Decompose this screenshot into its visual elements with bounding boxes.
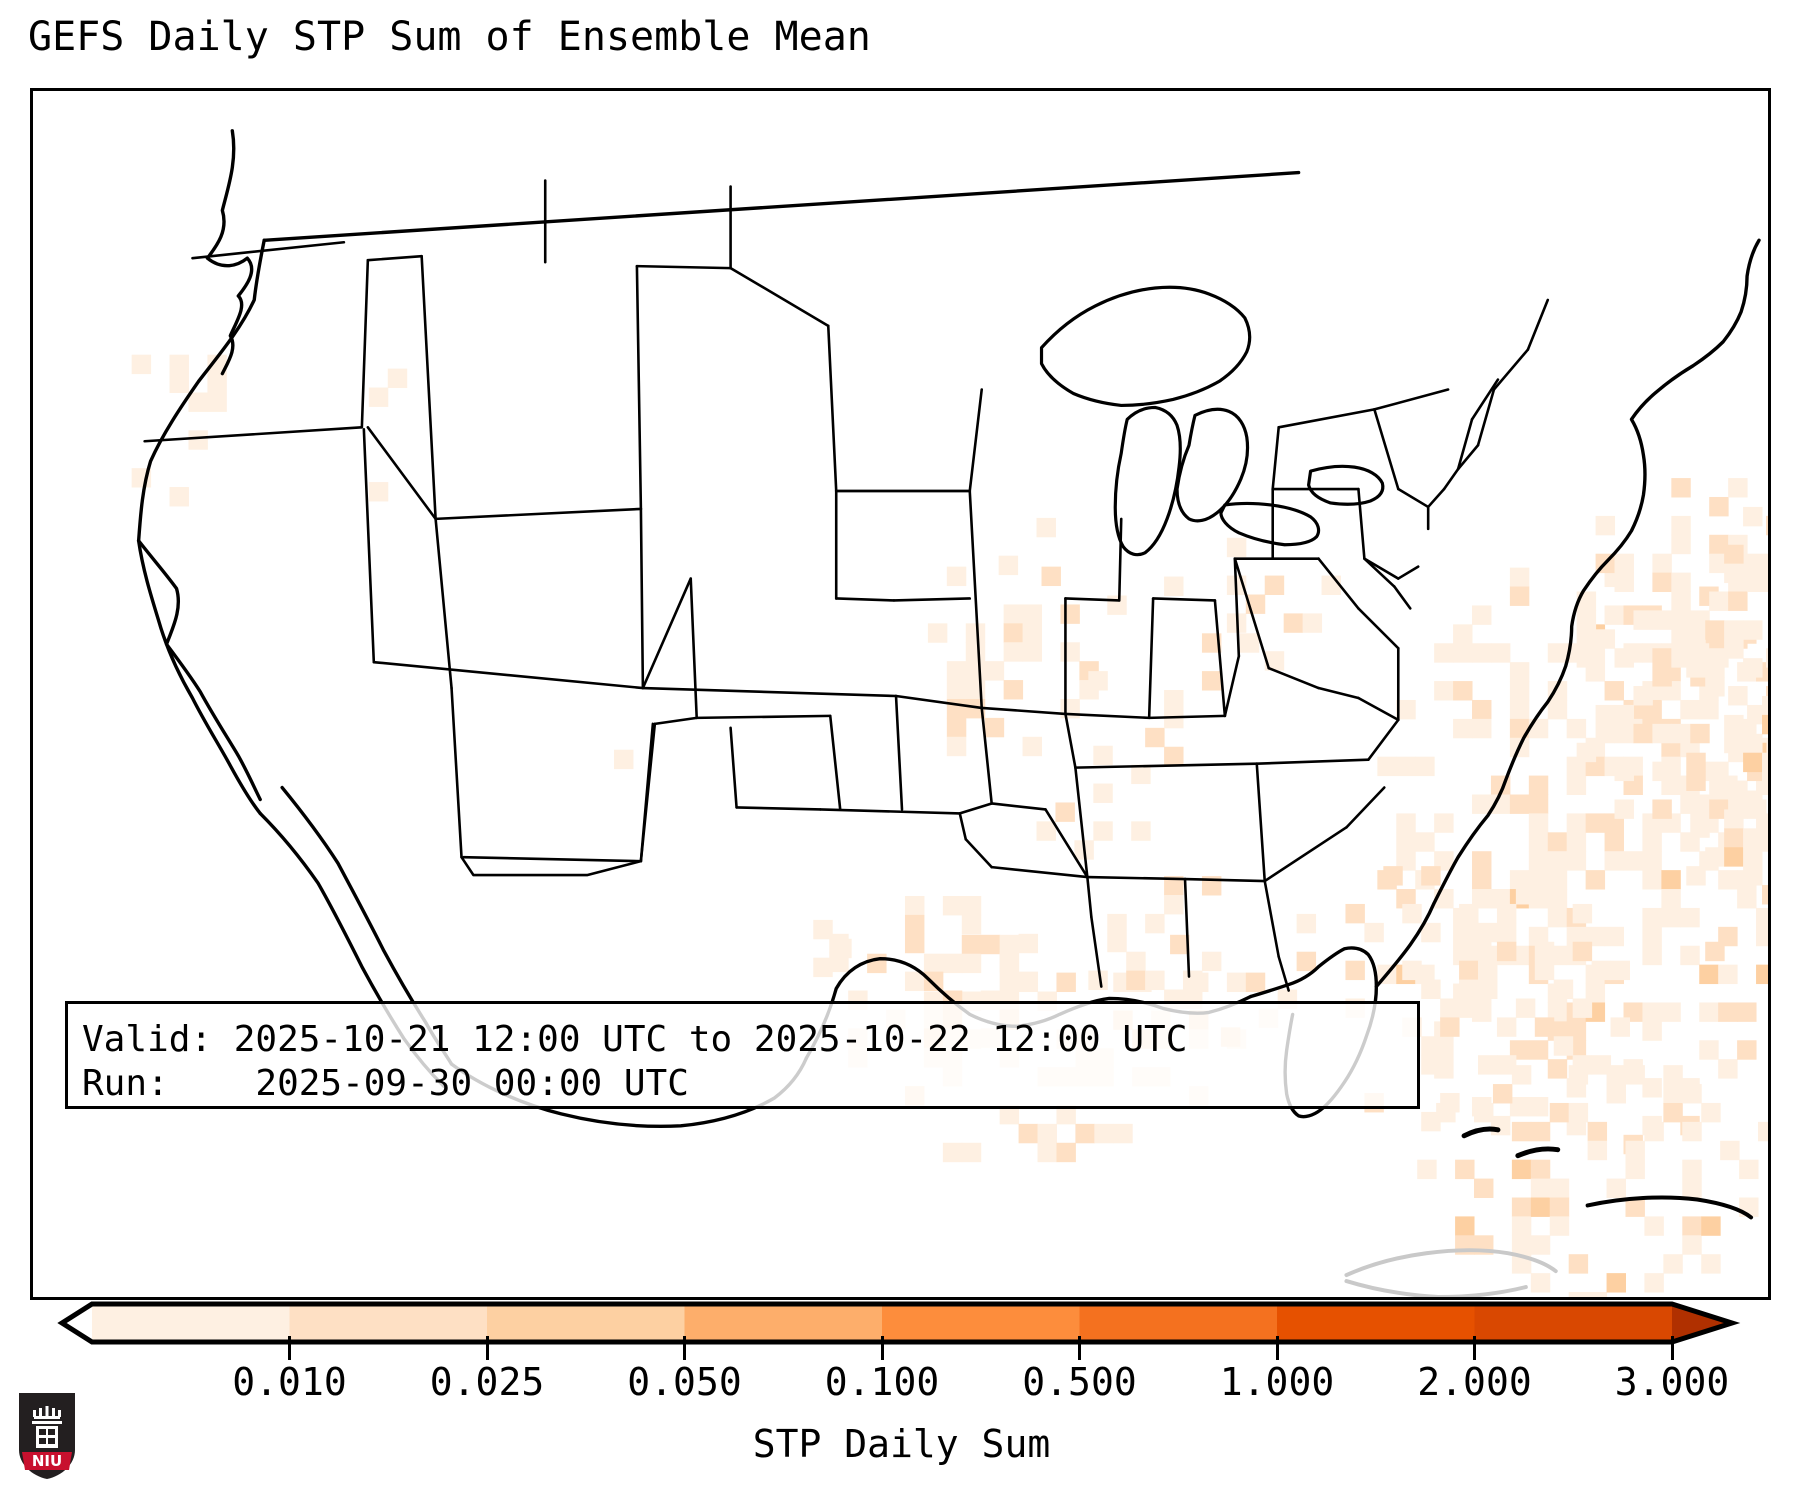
stp-grid-cell bbox=[1766, 516, 1768, 535]
stp-grid-cell bbox=[1705, 847, 1724, 866]
stp-grid-cell bbox=[1060, 604, 1079, 623]
stp-grid-cell bbox=[1529, 832, 1548, 851]
colorbar-tick bbox=[1473, 1336, 1476, 1360]
stp-grid-cell bbox=[1586, 870, 1605, 889]
stp-grid-cell bbox=[1107, 933, 1126, 952]
stp-grid-cell bbox=[1663, 1103, 1682, 1122]
stp-grid-cell bbox=[1183, 971, 1202, 990]
stp-grid-cell bbox=[1699, 700, 1718, 719]
stp-grid-cell bbox=[1459, 998, 1478, 1017]
stp-grid-cell bbox=[1055, 802, 1074, 821]
stp-grid-cell bbox=[1682, 1216, 1701, 1235]
stp-grid-cell bbox=[1548, 870, 1567, 889]
stp-grid-cell bbox=[1577, 610, 1596, 629]
stp-grid-cell bbox=[1131, 821, 1150, 840]
stp-grid-cell bbox=[1322, 576, 1341, 595]
stp-grid-cell bbox=[1756, 965, 1768, 984]
stp-grid-cell bbox=[1682, 1160, 1701, 1179]
stp-grid-cell bbox=[1493, 1084, 1512, 1103]
stp-grid-cell bbox=[1762, 885, 1768, 904]
niu-logo-text: NIU bbox=[32, 1452, 62, 1470]
stp-grid-cell bbox=[1126, 971, 1145, 990]
valid-time-text: Valid: 2025-10-21 12:00 UTC to 2025-10-2… bbox=[82, 1022, 1187, 1058]
stp-grid-cell bbox=[1743, 828, 1762, 847]
stp-grid-cell bbox=[1004, 623, 1023, 642]
stp-grid-cell bbox=[1037, 518, 1056, 537]
stp-grid-cell bbox=[1529, 1097, 1548, 1116]
stp-grid-cell bbox=[1615, 799, 1634, 818]
stp-grid-cell bbox=[1709, 762, 1728, 781]
stp-grid-cell bbox=[369, 388, 388, 407]
stp-grid-cell bbox=[1642, 1021, 1661, 1040]
stp-grid-cell bbox=[1497, 1017, 1516, 1036]
stp-grid-cell bbox=[1396, 832, 1415, 851]
stp-grid-cell bbox=[1743, 658, 1762, 677]
stp-grid-cell bbox=[1633, 610, 1652, 629]
stp-grid-cell bbox=[1682, 1235, 1701, 1254]
stp-grid-cell bbox=[1516, 885, 1535, 904]
stp-grid-cell bbox=[132, 355, 151, 374]
stp-grid-cell bbox=[1088, 971, 1107, 990]
stp-grid-cell bbox=[1459, 904, 1478, 923]
stp-grid-cell bbox=[1690, 724, 1709, 743]
stp-grid-cell bbox=[1661, 889, 1680, 908]
stp-grid-cell bbox=[1762, 696, 1768, 715]
stp-grid-cell bbox=[1550, 1197, 1569, 1216]
stp-grid-cell bbox=[188, 393, 207, 412]
stp-grid-cell bbox=[1569, 1103, 1588, 1122]
stp-grid-cell bbox=[813, 920, 832, 939]
stp-grid-cell bbox=[1202, 671, 1221, 690]
stp-grid-cell bbox=[1075, 1124, 1094, 1143]
stp-grid-cell bbox=[1701, 1216, 1720, 1235]
stp-grid-cell bbox=[1661, 908, 1680, 927]
stp-grid-cell bbox=[1671, 535, 1690, 554]
stp-grid-cell bbox=[1680, 908, 1699, 927]
stp-grid-cell bbox=[1652, 724, 1671, 743]
stp-grid-cell bbox=[1377, 757, 1396, 776]
stp-grid-cell bbox=[1728, 592, 1747, 611]
stp-grid-cell bbox=[1661, 870, 1680, 889]
stp-grid-cell bbox=[1093, 821, 1112, 840]
stp-grid-cell bbox=[1596, 705, 1615, 724]
stp-grid-cell bbox=[1093, 784, 1112, 803]
stp-grid-cell bbox=[1625, 1160, 1644, 1179]
stp-grid-cell bbox=[947, 718, 966, 737]
stp-grid-cell bbox=[1554, 980, 1573, 999]
stp-grid-cell bbox=[1567, 832, 1586, 851]
stp-grid-cell bbox=[1573, 904, 1592, 923]
stp-grid-cell bbox=[1126, 952, 1145, 971]
stp-grid-cell bbox=[1548, 851, 1567, 870]
stp-grid-cell bbox=[1724, 734, 1743, 753]
stp-grid-cell bbox=[1510, 662, 1529, 681]
stp-grid-cell bbox=[1709, 592, 1728, 611]
stp-grid-cell bbox=[1728, 686, 1747, 705]
stp-grid-cell bbox=[1625, 1141, 1644, 1160]
stp-grid-cell bbox=[1652, 762, 1671, 781]
stp-grid-cell bbox=[1548, 700, 1567, 719]
stp-grid-cell bbox=[1633, 724, 1652, 743]
colorbar-tick bbox=[881, 1336, 884, 1360]
stp-grid-cell bbox=[1718, 965, 1737, 984]
stp-grid-cell bbox=[1056, 1143, 1075, 1162]
stp-grid-cell bbox=[1529, 1040, 1548, 1059]
stp-grid-cell bbox=[1093, 746, 1112, 765]
stp-grid-cell bbox=[1758, 1122, 1768, 1141]
colorbar-tick-label: 3.000 bbox=[1615, 1360, 1729, 1404]
stp-grid-cell bbox=[1550, 1179, 1569, 1198]
stp-grid-cell bbox=[1107, 914, 1126, 933]
stp-grid-cell bbox=[966, 642, 985, 661]
stp-grid-cell bbox=[1434, 813, 1453, 832]
stp-grid-cell bbox=[1671, 516, 1690, 535]
stp-grid-cell bbox=[1615, 648, 1634, 667]
stp-grid-cell bbox=[999, 556, 1018, 575]
stp-grid-cell bbox=[1644, 1122, 1663, 1141]
stp-grid-cell bbox=[1724, 620, 1743, 639]
colorbar-tick-labels: 0.0100.0250.0500.1000.5001.0002.0003.000 bbox=[0, 1360, 1803, 1416]
colorbar-tick bbox=[1078, 1336, 1081, 1360]
stp-grid-cell bbox=[1652, 799, 1671, 818]
map-canvas bbox=[33, 91, 1768, 1297]
stp-grid-cell bbox=[1642, 870, 1661, 889]
stp-grid-cell bbox=[1472, 795, 1491, 814]
stp-grid-cell bbox=[1472, 643, 1491, 662]
stp-grid-cell bbox=[943, 896, 962, 915]
stp-grid-cell bbox=[1472, 870, 1491, 889]
stp-grid-cell bbox=[1529, 851, 1548, 870]
stp-grid-cell bbox=[1042, 567, 1061, 586]
stp-grid-cell bbox=[1718, 1002, 1737, 1021]
stp-grid-cell bbox=[1709, 781, 1728, 800]
stp-grid-cell bbox=[1567, 776, 1586, 795]
stp-grid-cell bbox=[1605, 927, 1624, 946]
stp-grid-cell bbox=[1512, 1216, 1531, 1235]
stp-grid-cell bbox=[1701, 1103, 1720, 1122]
stp-grid-cell bbox=[1615, 554, 1634, 573]
stp-grid-cell bbox=[1531, 1160, 1550, 1179]
stp-grid-cell bbox=[1164, 577, 1183, 596]
stp-grid-cell bbox=[1680, 946, 1699, 965]
stp-grid-cell bbox=[1453, 719, 1472, 738]
stp-grid-cell bbox=[1164, 747, 1183, 766]
stp-grid-cell bbox=[1596, 516, 1615, 535]
stp-grid-cell bbox=[966, 623, 985, 642]
stp-grid-cell bbox=[1682, 1084, 1701, 1103]
stp-grid-cell bbox=[1743, 791, 1762, 810]
stp-grid-cell bbox=[1652, 667, 1671, 686]
stp-grid-cell bbox=[1642, 946, 1661, 965]
stp-grid-cell bbox=[1284, 613, 1303, 632]
stp-grid-cell bbox=[962, 896, 981, 915]
stp-grid-cell bbox=[1415, 757, 1434, 776]
stp-grid-cell bbox=[1548, 889, 1567, 908]
stp-grid-cell bbox=[1682, 1179, 1701, 1198]
stp-grid-cell bbox=[1743, 847, 1762, 866]
stp-grid-cell bbox=[1699, 1040, 1718, 1059]
stp-grid-cell bbox=[1491, 643, 1510, 662]
stp-grid-cell bbox=[1023, 642, 1042, 661]
stp-grid-cell bbox=[1436, 1103, 1455, 1122]
stp-grid-cell bbox=[962, 954, 981, 973]
stp-grid-cell bbox=[1705, 677, 1724, 696]
stp-grid-cell bbox=[1756, 927, 1768, 946]
stp-grid-cell bbox=[1686, 620, 1705, 639]
stp-grid-cell bbox=[1762, 828, 1768, 847]
colorbar-ticks bbox=[0, 1336, 1803, 1362]
stp-grid-cell bbox=[1478, 1055, 1497, 1074]
stp-grid-cell bbox=[1737, 889, 1756, 908]
stp-grid-cell bbox=[1164, 690, 1183, 709]
stp-grid-cell bbox=[388, 369, 407, 388]
stp-grid-cell bbox=[1455, 1216, 1474, 1235]
stp-grid-cell bbox=[1686, 772, 1705, 791]
stp-grid-cell bbox=[1663, 1084, 1682, 1103]
stp-grid-cell bbox=[1510, 681, 1529, 700]
stp-grid-cell bbox=[1529, 776, 1548, 795]
stp-grid-cell bbox=[1038, 1124, 1057, 1143]
stp-grid-cell bbox=[947, 699, 966, 718]
stp-grid-cell bbox=[369, 482, 388, 501]
stp-grid-cell bbox=[1705, 620, 1724, 639]
stp-grid-cell bbox=[867, 954, 886, 973]
stp-grid-cell bbox=[1605, 681, 1624, 700]
stp-grid-cell bbox=[1023, 623, 1042, 642]
stp-grid-cell bbox=[1569, 1292, 1588, 1297]
stp-grid-cell bbox=[1107, 595, 1126, 614]
stp-grid-cell bbox=[1434, 681, 1453, 700]
stp-grid-cell bbox=[1663, 1065, 1682, 1084]
stp-grid-cell bbox=[1038, 1143, 1057, 1162]
run-time-text: Run: 2025-09-30 00:00 UTC bbox=[82, 1066, 689, 1102]
stp-grid-cell bbox=[1607, 1084, 1626, 1103]
stp-grid-cell bbox=[1743, 507, 1762, 526]
stp-grid-cell bbox=[170, 374, 189, 393]
stp-grid-cell bbox=[1642, 832, 1661, 851]
stp-grid-cell bbox=[1607, 1065, 1626, 1084]
stp-grid-cell bbox=[1019, 934, 1038, 953]
stp-grid-cell bbox=[1240, 633, 1259, 652]
colorbar-tick bbox=[1276, 1336, 1279, 1360]
stp-grid-cell bbox=[1718, 870, 1737, 889]
stp-grid-cell bbox=[1686, 753, 1705, 772]
colorbar-tick-label: 0.050 bbox=[627, 1360, 741, 1404]
stp-grid-cell bbox=[1548, 643, 1567, 662]
stp-grid-cell bbox=[1056, 973, 1075, 992]
stp-grid-cell bbox=[1459, 980, 1478, 999]
stp-grid-cell bbox=[1743, 753, 1762, 772]
stp-grid-cell bbox=[1417, 1160, 1436, 1179]
stp-grid-cell bbox=[943, 954, 962, 973]
stp-grid-cell bbox=[1088, 671, 1107, 690]
stp-grid-cell bbox=[1611, 1017, 1630, 1036]
stp-grid-cell bbox=[1512, 1197, 1531, 1216]
stp-grid-cell bbox=[1615, 705, 1634, 724]
stp-grid-cell bbox=[1510, 795, 1529, 814]
colorbar-tick-label: 0.100 bbox=[825, 1360, 939, 1404]
stp-grid-cell bbox=[1023, 737, 1042, 756]
stp-grid-cell bbox=[1701, 1254, 1720, 1273]
stp-grid-cell bbox=[1747, 554, 1766, 573]
stp-grid-cell bbox=[1421, 866, 1440, 885]
stp-grid-cell bbox=[1766, 573, 1768, 592]
stp-grid-cell bbox=[1004, 680, 1023, 699]
stp-grid-cell bbox=[962, 915, 981, 934]
stp-grid-cell bbox=[1478, 923, 1497, 942]
stp-grid-cell bbox=[1004, 604, 1023, 623]
stp-grid-cell bbox=[947, 661, 966, 680]
stp-grid-cell bbox=[1491, 1116, 1510, 1135]
stp-grid-cell bbox=[1402, 904, 1421, 923]
stp-grid-cell bbox=[1019, 972, 1038, 991]
stp-grid-cell bbox=[1724, 715, 1743, 734]
stp-grid-cell bbox=[1652, 610, 1671, 629]
stp-grid-cell bbox=[1569, 1065, 1588, 1084]
colorbar-tick-label: 0.500 bbox=[1022, 1360, 1136, 1404]
stp-grid-cell bbox=[1497, 923, 1516, 942]
stp-grid-cell bbox=[943, 1143, 962, 1162]
stp-grid-cell bbox=[1623, 851, 1642, 870]
stp-grid-cell bbox=[1023, 604, 1042, 623]
stp-grid-cell bbox=[1577, 743, 1596, 762]
stp-grid-cell bbox=[1510, 700, 1529, 719]
stp-grid-cell bbox=[1037, 821, 1056, 840]
stp-grid-cell bbox=[1478, 980, 1497, 999]
stp-grid-cell bbox=[1569, 1254, 1588, 1273]
stp-grid-cell bbox=[1434, 643, 1453, 662]
stp-grid-cell bbox=[1060, 642, 1079, 661]
stp-grid-cell bbox=[1510, 587, 1529, 606]
stp-grid-cell bbox=[1724, 809, 1743, 828]
stp-grid-cell bbox=[1531, 1273, 1550, 1292]
stp-grid-cell bbox=[985, 718, 1004, 737]
stp-grid-cell bbox=[1652, 554, 1671, 573]
stp-grid-cell bbox=[1577, 629, 1596, 648]
stp-grid-cell bbox=[188, 430, 207, 449]
stp-grid-cell bbox=[1145, 728, 1164, 747]
stp-grid-cell bbox=[1756, 908, 1768, 927]
stp-grid-cell bbox=[1642, 908, 1661, 927]
stp-grid-cell bbox=[1402, 961, 1421, 980]
stp-grid-cell bbox=[614, 750, 633, 769]
stp-grid-cell bbox=[985, 661, 1004, 680]
stp-grid-cell bbox=[1421, 1036, 1440, 1055]
stp-grid-cell bbox=[1227, 973, 1246, 992]
stp-grid-cell bbox=[981, 935, 1000, 954]
stp-grid-cell bbox=[1671, 478, 1690, 497]
stp-grid-cell bbox=[1607, 1273, 1626, 1292]
stp-grid-cell bbox=[1531, 1197, 1550, 1216]
stp-grid-cell bbox=[1265, 576, 1284, 595]
stp-grid-cell bbox=[1766, 648, 1768, 667]
stp-grid-cell bbox=[1472, 719, 1491, 738]
stp-grid-cell bbox=[1661, 1002, 1680, 1021]
colorbar-tick-label: 0.025 bbox=[430, 1360, 544, 1404]
stp-grid-cell bbox=[170, 487, 189, 506]
colorbar-axis-label: STP Daily Sum bbox=[0, 1422, 1803, 1466]
stp-grid-cell bbox=[207, 374, 226, 393]
stp-grid-cell bbox=[1474, 1103, 1493, 1122]
stp-grid-cell bbox=[1762, 772, 1768, 791]
stp-grid-cell bbox=[1690, 799, 1709, 818]
stp-grid-cell bbox=[1529, 813, 1548, 832]
colorbar-tick-label: 0.010 bbox=[232, 1360, 346, 1404]
stp-grid-cell bbox=[1529, 795, 1548, 814]
stp-grid-cell bbox=[1644, 1216, 1663, 1235]
stp-grid-cell bbox=[1588, 1292, 1607, 1297]
stp-grid-cell bbox=[1743, 866, 1762, 885]
stp-grid-cell bbox=[1605, 605, 1624, 624]
colorbar-tick bbox=[1671, 1336, 1674, 1360]
stp-grid-cell bbox=[207, 393, 226, 412]
stp-grid-cell bbox=[1531, 1235, 1550, 1254]
stp-grid-cell bbox=[1724, 847, 1743, 866]
stp-grid-cell bbox=[1516, 998, 1535, 1017]
stp-grid-cell bbox=[1497, 904, 1516, 923]
stp-grid-cell bbox=[1459, 961, 1478, 980]
stp-grid-cell bbox=[1548, 1059, 1567, 1078]
stp-grid-cell bbox=[1453, 681, 1472, 700]
stp-grid-cell bbox=[1535, 1017, 1554, 1036]
stp-grid-cell bbox=[1615, 724, 1634, 743]
stp-grid-cell bbox=[1227, 538, 1246, 557]
figure-root: GEFS Daily STP Sum of Ensemble Mean bbox=[0, 0, 1803, 1500]
stp-grid-cell bbox=[1705, 942, 1724, 961]
stp-grid-cell bbox=[1421, 980, 1440, 999]
stp-grid-cell bbox=[1415, 832, 1434, 851]
stp-grid-cell bbox=[1512, 1235, 1531, 1254]
stp-grid-cell bbox=[1588, 1141, 1607, 1160]
stp-grid-cell bbox=[905, 896, 924, 915]
stp-grid-cell bbox=[1550, 1216, 1569, 1235]
stp-grid-cell bbox=[1459, 923, 1478, 942]
stp-grid-cell bbox=[170, 355, 189, 374]
stp-grid-cell bbox=[1682, 1122, 1701, 1141]
stp-grid-cell bbox=[1724, 828, 1743, 847]
stp-grid-cell bbox=[1686, 866, 1705, 885]
stp-grid-cell bbox=[1652, 573, 1671, 592]
stp-grid-cell bbox=[1455, 1160, 1474, 1179]
stp-grid-cell bbox=[1686, 639, 1705, 658]
stp-grid-cell bbox=[1577, 648, 1596, 667]
stp-grid-cell bbox=[1605, 851, 1624, 870]
stp-grid-cell bbox=[1478, 961, 1497, 980]
stp-grid-cell bbox=[1592, 961, 1611, 980]
stp-grid-cell bbox=[1699, 1002, 1718, 1021]
stp-grid-cell bbox=[1652, 648, 1671, 667]
stp-grid-cell bbox=[1680, 700, 1699, 719]
stp-grid-cell bbox=[1472, 851, 1491, 870]
stp-grid-cell bbox=[1497, 942, 1516, 961]
stp-grid-cell bbox=[1297, 914, 1316, 933]
stp-grid-cell bbox=[1605, 832, 1624, 851]
colorbar-tick bbox=[486, 1336, 489, 1360]
stp-grid-cell bbox=[1625, 1065, 1644, 1084]
stp-grid-cell bbox=[1440, 1017, 1459, 1036]
stp-grid-cell bbox=[1000, 953, 1019, 972]
stp-grid-cell bbox=[813, 958, 832, 977]
stp-grid-cell bbox=[1510, 568, 1529, 587]
stp-grid-cell bbox=[1396, 757, 1415, 776]
colorbar-tick-label: 1.000 bbox=[1220, 1360, 1334, 1404]
stp-grid-cell bbox=[1588, 1122, 1607, 1141]
stp-grid-cell bbox=[1383, 866, 1402, 885]
stp-grid-cell bbox=[1345, 961, 1364, 980]
stp-grid-cell bbox=[1512, 1065, 1531, 1084]
stp-grid-cell bbox=[1596, 629, 1615, 648]
stp-grid-cell bbox=[1644, 1273, 1663, 1292]
